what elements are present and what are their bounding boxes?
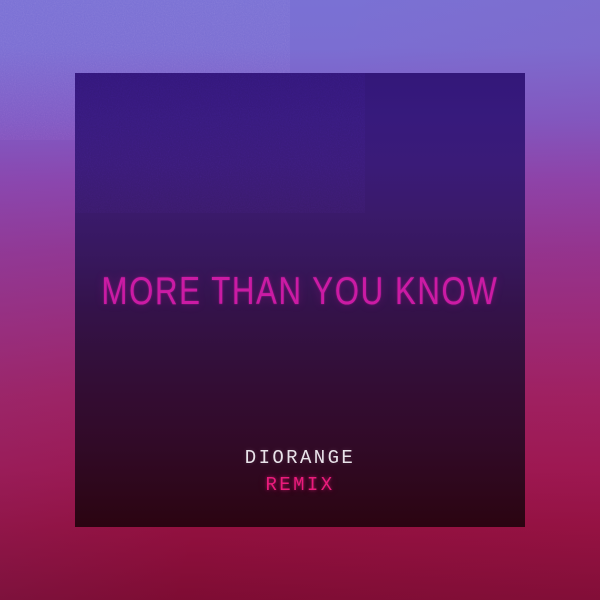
credits-block: DIORANGE REMIX [0,449,600,495]
version-label: REMIX [0,476,600,495]
track-title: MORE THAN YOU KNOW [60,272,540,311]
panel-grain-texture [75,73,365,213]
artist-name: DIORANGE [0,449,600,468]
album-cover-artwork: MORE THAN YOU KNOW DIORANGE REMIX [0,0,600,600]
